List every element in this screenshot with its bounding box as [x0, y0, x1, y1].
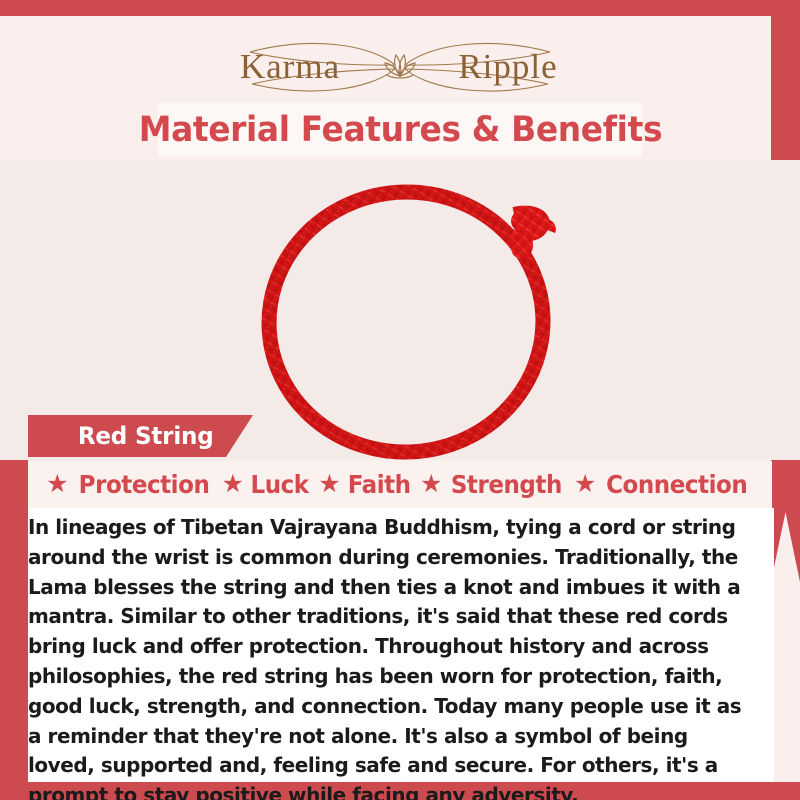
benefit-item-connection: ★ Connection [574, 470, 754, 499]
benefit-label: Strength [451, 470, 562, 499]
page-title: Material Features & Benefits [138, 110, 661, 150]
star-icon: ★ [46, 472, 68, 497]
title-banner: Material Features & Benefits [158, 103, 642, 156]
benefit-label: Luck [251, 470, 309, 499]
infographic-poster: Karma Ripple Material Features & Benefit… [0, 0, 800, 800]
red-string-bracelet-image [246, 174, 576, 460]
brand-logo-svg: Karma Ripple [190, 34, 610, 100]
benefit-item-luck: ★ Luck [222, 470, 312, 499]
benefit-label: Protection [78, 470, 209, 499]
material-ribbon-label: Red String [28, 415, 253, 457]
brand-name-right: Ripple [458, 47, 557, 86]
frame-top-bar [0, 0, 800, 16]
description-text: In lineages of Tibetan Vajrayana Buddhis… [28, 508, 763, 800]
brand-logo: Karma Ripple [0, 34, 800, 100]
description-panel: In lineages of Tibetan Vajrayana Buddhis… [28, 508, 774, 782]
star-icon: ★ [222, 472, 244, 497]
star-icon: ★ [318, 472, 340, 497]
benefit-label: Connection [607, 470, 748, 499]
benefit-item-protection: ★ Protection [46, 470, 214, 499]
benefit-item-faith: ★ Faith [318, 470, 413, 499]
star-icon: ★ [420, 472, 442, 497]
material-name: Red String [78, 422, 214, 450]
benefit-item-strength: ★ Strength [420, 470, 567, 499]
brand-name-left: Karma [240, 47, 340, 86]
lotus-icon [385, 55, 415, 78]
benefits-row: ★ Protection ★ Luck ★ Faith ★ Strength ★… [28, 461, 772, 508]
star-icon: ★ [574, 472, 596, 497]
benefit-label: Faith [347, 470, 410, 499]
